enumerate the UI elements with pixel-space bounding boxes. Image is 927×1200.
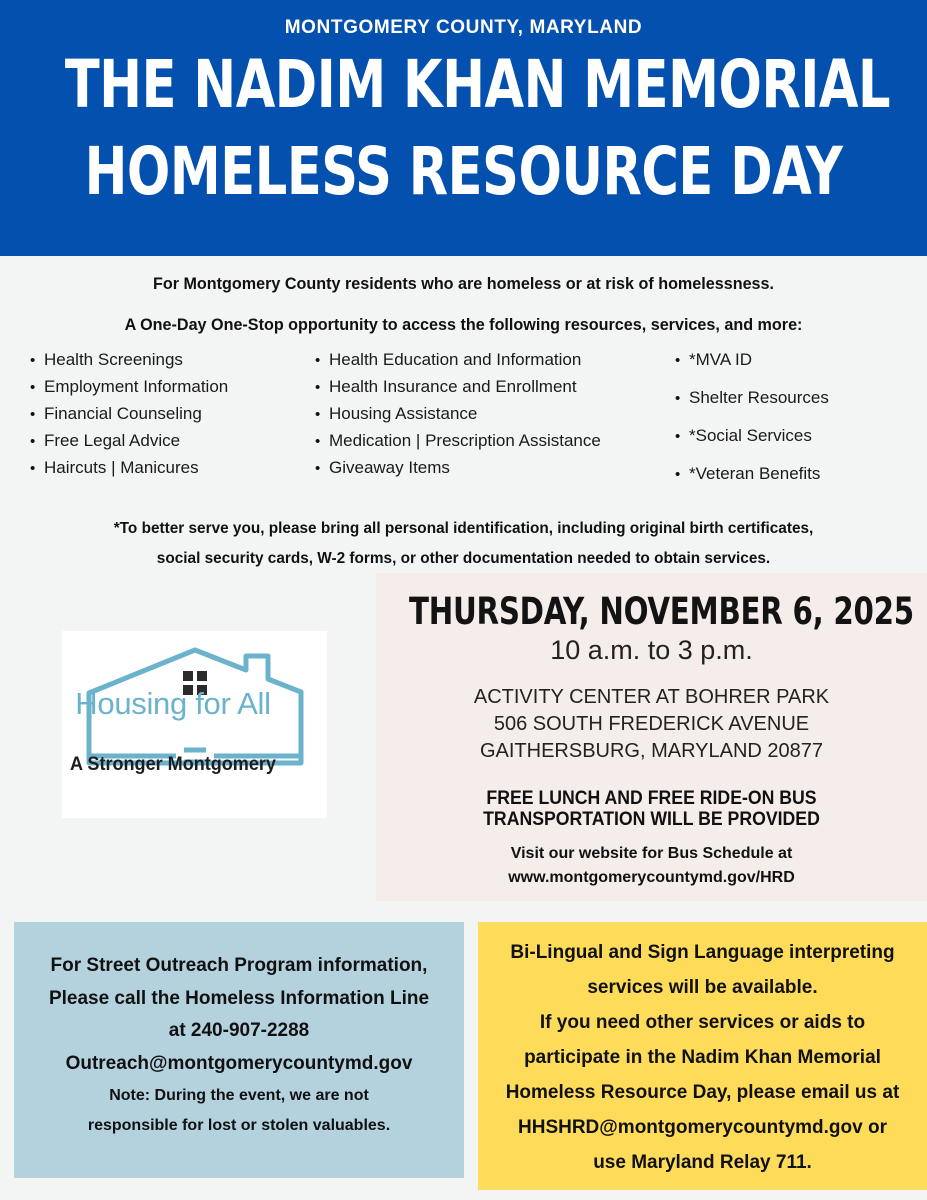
outreach-note-line-1: Note: During the event, we are not — [14, 1081, 464, 1112]
bullet-icon: • — [315, 461, 329, 476]
bullet-icon: • — [675, 467, 689, 482]
bullet-icon: • — [30, 434, 44, 449]
bullet-icon: • — [315, 380, 329, 395]
event-venue: ACTIVITY CENTER AT BOHRER PARK — [376, 684, 927, 711]
middle-section: Housing for All A Stronger Montgomery TH… — [0, 573, 927, 903]
list-item-label: Employment Information — [44, 377, 228, 397]
event-time: 10 a.m. to 3 p.m. — [376, 634, 927, 668]
outreach-line-2: Please call the Homeless Information Lin… — [14, 983, 464, 1016]
event-details-panel: THURSDAY, NOVEMBER 6, 2025 10 a.m. to 3 … — [376, 573, 927, 901]
bullet-icon: • — [675, 391, 689, 406]
outreach-line-1: For Street Outreach Program information, — [14, 950, 464, 983]
bullet-icon: • — [30, 380, 44, 395]
event-date: THURSDAY, NOVEMBER 6, 2025 — [409, 593, 894, 632]
bullet-icon: • — [30, 353, 44, 368]
bus-schedule-website: Visit our website for Bus Schedule at ww… — [376, 842, 927, 890]
website-label: Visit our website for Bus Schedule at — [376, 842, 927, 866]
bullet-icon: • — [315, 407, 329, 422]
transportation-line-1: FREE LUNCH AND FREE RIDE-ON BUS — [395, 789, 907, 810]
list-item-label: Financial Counseling — [44, 404, 202, 424]
list-item: • Free Legal Advice — [30, 431, 315, 451]
list-item-label: Health Insurance and Enrollment — [329, 377, 577, 397]
accessibility-line-1: Bi-Lingual and Sign Language interpretin… — [478, 936, 927, 971]
transportation-line-2: TRANSPORTATION WILL BE PROVIDED — [395, 810, 907, 831]
logo-tagline: A Stronger Montgomery — [68, 755, 279, 774]
list-item: • *Veteran Benefits — [675, 464, 905, 484]
intro-line-1: For Montgomery County residents who are … — [23, 274, 904, 294]
accessibility-line-2: services will be available. — [478, 971, 927, 1006]
list-item-label: Haircuts | Manicures — [44, 458, 199, 478]
street-outreach-box: For Street Outreach Program information,… — [14, 922, 464, 1178]
resource-column-1: • Health Screenings • Employment Informa… — [30, 350, 315, 485]
website-url[interactable]: www.montgomerycountymd.gov/HRD — [376, 866, 927, 890]
list-item: • Financial Counseling — [30, 404, 315, 424]
resource-column-2: • Health Education and Information • Hea… — [315, 350, 675, 485]
accessibility-relay: use Maryland Relay 711. — [478, 1146, 927, 1181]
bullet-icon: • — [30, 407, 44, 422]
list-item-label: Health Screenings — [44, 350, 183, 370]
accessibility-line-3: If you need other services or aids to — [478, 1006, 927, 1041]
accessibility-email[interactable]: HHSHRD@montgomerycountymd.gov or — [478, 1111, 927, 1146]
list-item-label: Housing Assistance — [329, 404, 477, 424]
bullet-icon: • — [315, 353, 329, 368]
event-city-state-zip: GAITHERSBURG, MARYLAND 20877 — [376, 738, 927, 765]
list-item: • Health Insurance and Enrollment — [315, 377, 675, 397]
flyer-title-line-2: HOMELESS RESOURCE DAY — [65, 140, 862, 205]
event-address: ACTIVITY CENTER AT BOHRER PARK 506 SOUTH… — [376, 684, 927, 765]
list-item-label: *MVA ID — [689, 350, 752, 370]
resource-column-3: • *MVA ID • Shelter Resources • *Social … — [675, 350, 905, 502]
list-item: • Medication | Prescription Assistance — [315, 431, 675, 451]
footnote-line-2: social security cards, W-2 forms, or oth… — [42, 544, 886, 574]
list-item-label: *Social Services — [689, 426, 812, 446]
event-street: 506 SOUTH FREDERICK AVENUE — [376, 711, 927, 738]
flyer-title-line-1: THE NADIM KHAN MEMORIAL — [65, 53, 862, 118]
bullet-icon: • — [675, 429, 689, 444]
list-item-label: Health Education and Information — [329, 350, 581, 370]
transportation-highlight: FREE LUNCH AND FREE RIDE-ON BUS TRANSPOR… — [395, 789, 907, 830]
accessibility-box: Bi-Lingual and Sign Language interpretin… — [478, 922, 927, 1190]
bullet-icon: • — [30, 461, 44, 476]
list-item-label: Giveaway Items — [329, 458, 450, 478]
identification-footnote: *To better serve you, please bring all p… — [19, 502, 909, 573]
outreach-email[interactable]: Outreach@montgomerycountymd.gov — [14, 1048, 464, 1081]
outreach-note-line-2: responsible for lost or stolen valuables… — [14, 1111, 464, 1142]
intro-section: For Montgomery County residents who are … — [0, 256, 927, 334]
list-item-label: Medication | Prescription Assistance — [329, 431, 601, 451]
intro-line-2: A One-Day One-Stop opportunity to access… — [23, 315, 904, 335]
list-item: • Haircuts | Manicures — [30, 458, 315, 478]
list-item: • Shelter Resources — [675, 388, 905, 408]
house-icon — [84, 645, 306, 805]
flyer-header: MONTGOMERY COUNTY, MARYLAND THE NADIM KH… — [0, 0, 927, 256]
housing-for-all-logo-card: Housing for All A Stronger Montgomery — [62, 631, 327, 818]
logo-primary-text: Housing for All — [62, 688, 284, 719]
logo-inner: Housing for All A Stronger Montgomery — [62, 631, 327, 818]
list-item: • *Social Services — [675, 426, 905, 446]
footnote-line-1: *To better serve you, please bring all p… — [42, 514, 886, 544]
list-item: • *MVA ID — [675, 350, 905, 370]
list-item-label: Shelter Resources — [689, 388, 829, 408]
outreach-phone[interactable]: at 240-907-2288 — [14, 1015, 464, 1048]
list-item: • Employment Information — [30, 377, 315, 397]
bullet-icon: • — [315, 434, 329, 449]
accessibility-line-5: Homeless Resource Day, please email us a… — [478, 1076, 927, 1111]
bullet-icon: • — [675, 353, 689, 368]
list-item-label: Free Legal Advice — [44, 431, 180, 451]
list-item-label: *Veteran Benefits — [689, 464, 820, 484]
resource-list: • Health Screenings • Employment Informa… — [0, 334, 927, 502]
list-item: • Health Screenings — [30, 350, 315, 370]
list-item: • Health Education and Information — [315, 350, 675, 370]
list-item: • Housing Assistance — [315, 404, 675, 424]
accessibility-line-4: participate in the Nadim Khan Memorial — [478, 1041, 927, 1076]
list-item: • Giveaway Items — [315, 458, 675, 478]
bottom-section: For Street Outreach Program information,… — [0, 922, 927, 1200]
header-eyebrow: MONTGOMERY COUNTY, MARYLAND — [0, 18, 927, 37]
